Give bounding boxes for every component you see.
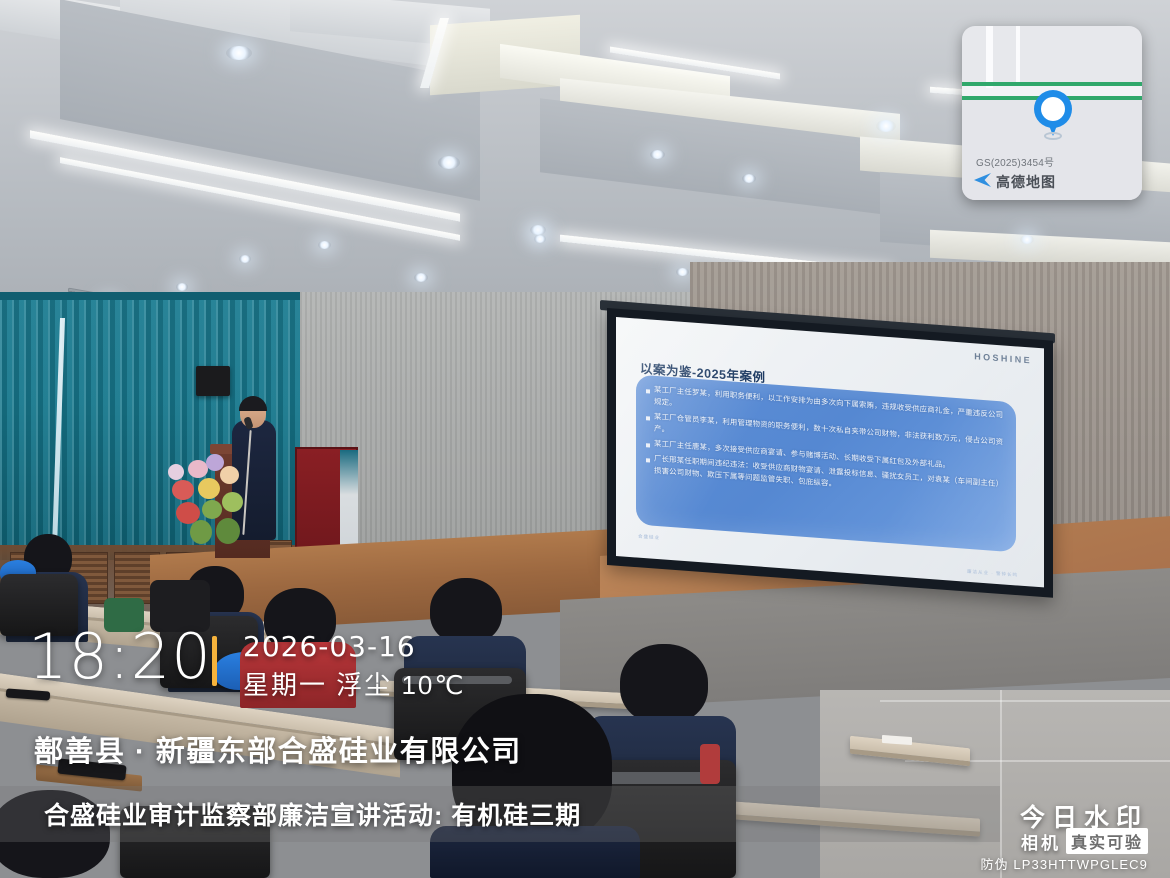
map-road-vertical xyxy=(1016,26,1020,84)
downlight xyxy=(414,273,428,282)
app-brand-verify-badge: 真实可验 xyxy=(1066,828,1148,854)
watermark-time: 18:20 xyxy=(28,628,212,686)
watermark-weather: 星期一 浮尘 10℃ xyxy=(243,665,466,702)
anti-counterfeit-code: 防伪 LP33HTTWPGLEC9 xyxy=(980,854,1148,873)
photo-watermark-screenshot: HOSHINE 以案为鉴-2025年案例 某工厂主任罗某，利用职务便利，以工作安… xyxy=(0,0,1170,878)
downlight xyxy=(534,235,546,243)
audience-head xyxy=(430,578,502,644)
slide-footer-left: 合盛硅业 xyxy=(638,534,660,542)
map-pin-shadow xyxy=(1044,132,1062,140)
map-provider-name: 高德地图 xyxy=(996,172,1056,192)
hoshine-logo: HOSHINE xyxy=(974,351,1032,365)
slide-footer-right: 廉洁从业 · 警钟长鸣 xyxy=(967,569,1018,579)
bullet-marker-icon xyxy=(646,458,650,462)
downlight xyxy=(318,241,331,249)
downlight xyxy=(1020,235,1034,244)
watermark-caption: 合盛硅业审计监察部廉洁宣讲活动: 有机硅三期 xyxy=(44,796,581,832)
map-approval-number: GS(2025)3454号 xyxy=(976,154,1054,169)
audience-head xyxy=(620,644,708,724)
tile-line xyxy=(880,700,1170,702)
downlight xyxy=(239,255,251,263)
app-brand-line2: 相机 真实可验 xyxy=(1021,828,1148,854)
app-brand-camera-label: 相机 xyxy=(1021,829,1061,854)
tile-line xyxy=(1000,690,1002,878)
downlight xyxy=(650,150,665,159)
watermark-date: 2026-03-16 xyxy=(243,630,416,663)
presentation-slide: HOSHINE 以案为鉴-2025年案例 某工厂主任罗某，利用职务便利，以工作安… xyxy=(616,317,1044,587)
downlight xyxy=(176,283,188,291)
downlight xyxy=(438,156,460,169)
map-road-horizontal xyxy=(962,82,1142,86)
downlight xyxy=(530,225,546,235)
downlight xyxy=(226,46,252,60)
bullet-marker-icon xyxy=(646,389,650,393)
downlight xyxy=(876,120,896,132)
map-pin-icon xyxy=(1034,90,1072,128)
flower-arrangement xyxy=(168,452,253,550)
ceiling-speaker xyxy=(196,366,230,396)
slide-bullet-box: 某工厂主任罗某，利用职务便利，以工作安排为由多次向下属索贿，违规收受供应商礼金，… xyxy=(636,374,1016,552)
downlight xyxy=(676,268,689,276)
downlight xyxy=(742,174,756,183)
watermark-location: 鄯善县 · 新疆东部合盛硅业有限公司 xyxy=(34,728,522,770)
map-road-vertical xyxy=(986,26,993,88)
bullet-marker-icon xyxy=(646,443,650,447)
map-card[interactable]: GS(2025)3454号 高德地图 xyxy=(962,26,1142,200)
watermark-divider xyxy=(212,636,217,686)
bullet-marker-icon xyxy=(646,416,650,420)
projector-screen: HOSHINE 以案为鉴-2025年案例 某工厂主任罗某，利用职务便利，以工作安… xyxy=(616,317,1044,587)
uniform-stripe xyxy=(700,744,720,784)
